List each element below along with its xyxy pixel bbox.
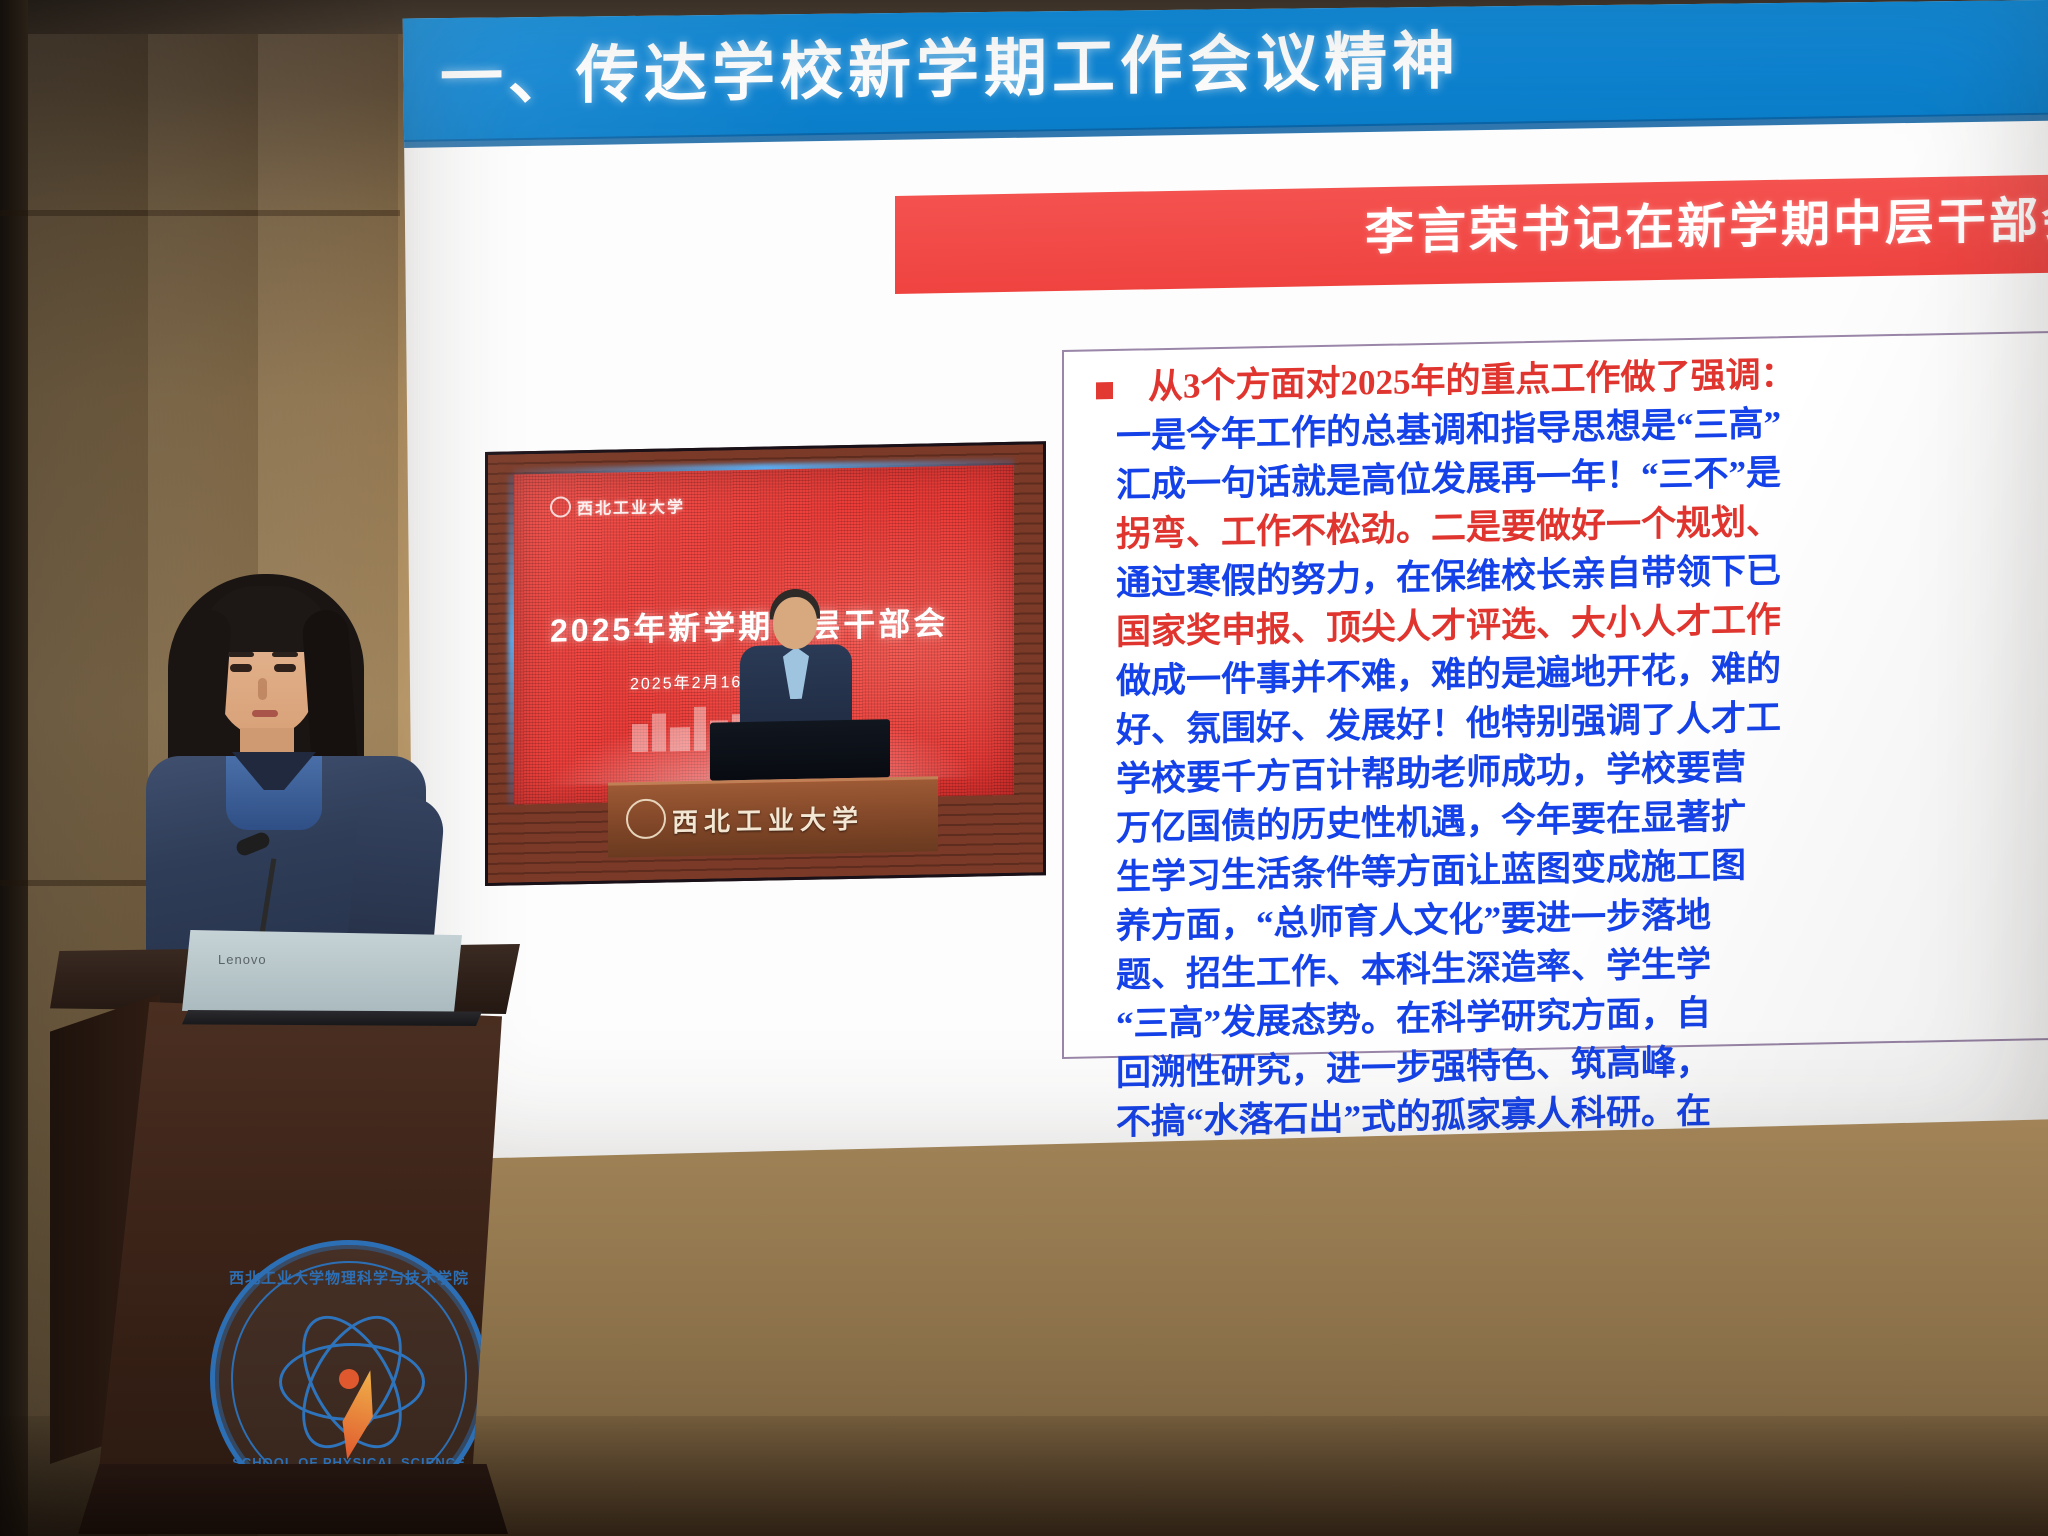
slide-line-text: 汇成一句话就是高位发展再一年！“三不”是 — [1116, 453, 1781, 505]
slide-section-title: 一、传达学校新学期工作会议精神 — [440, 30, 1460, 110]
emblem-top-text: 西北工业大学物理科学与技术学院 — [215, 1267, 483, 1288]
photo-speaker-podium — [710, 719, 890, 780]
slide-line-text: 从3个方面对2025年的重点工作做了强调： — [1148, 355, 1796, 406]
presenter-nose — [258, 678, 267, 700]
projection-screen: 一、传达学校新学期工作会议精神 李言荣书记在新学期中层干部会 西北工业大学 20… — [397, 0, 2048, 1160]
slide-text-box: 从3个方面对2025年的重点工作做了强调：一是今年工作的总基调和指导思想是“三高… — [1062, 331, 2048, 1059]
slide-red-title-text: 李言荣书记在新学期中层干部会 — [1365, 196, 2048, 258]
presenter-mouth — [252, 710, 278, 717]
slide-line-text: 好、氛围好、发展好！他特别强调了人才工 — [1116, 698, 1781, 750]
slide-line-text: 一是今年工作的总基调和指导思想是“三高” — [1116, 404, 1781, 456]
slide-line-text: 生学习生活条件等方面让蓝图变成施工图 — [1116, 846, 1746, 897]
slide-line-text: 通过寒假的努力，在保维校长亲自带领下已 — [1116, 551, 1781, 603]
slide-line-text: 万亿国债的历史性机遇，今年要在显著扩 — [1116, 797, 1746, 848]
photo-lectern-name: 西北工业大学 — [672, 799, 864, 840]
slide-body-lines: 从3个方面对2025年的重点工作做了强调：一是今年工作的总基调和指导思想是“三高… — [1074, 342, 2048, 1197]
presenter-eye-left — [230, 664, 252, 672]
slide-line-text: 回溯性研究，进一步强特色、筑高峰， — [1116, 1043, 1711, 1093]
screenshot-stage: 一、传达学校新学期工作会议精神 李言荣书记在新学期中层干部会 西北工业大学 20… — [0, 0, 2048, 1536]
bullet-square-icon — [1096, 382, 1113, 399]
slide-red-title-bar: 李言荣书记在新学期中层干部会 — [895, 175, 2048, 294]
slide-line-text: 学校要千方百计帮助老师成功，学校要营 — [1116, 748, 1746, 799]
slide-line-text: 拐弯、工作不松劲。二是要做好一个规划、 — [1116, 502, 1781, 554]
photo-logo-text: 西北工业大学 — [577, 499, 685, 518]
slide-line-text: 国家奖申报、顶尖人才评选、大小人才工作 — [1116, 600, 1781, 652]
photo-speaker-head — [773, 597, 817, 650]
slide-line-text: “三高”发展态势。在科学研究方面，自 — [1116, 994, 1711, 1044]
emblem-nucleus — [339, 1369, 359, 1389]
photo-lectern: 西北工业大学 — [608, 776, 938, 857]
presenter-eyebrow-right — [272, 652, 298, 657]
laptop-brand-label: Lenovo — [218, 952, 267, 967]
photo-lectern-seal — [626, 799, 666, 840]
slide-line-text: 做成一件事并不难，难的是遍地开花，难的 — [1116, 649, 1781, 701]
laptop-hinge — [182, 1010, 482, 1026]
laptop-lid: Lenovo — [182, 930, 462, 1016]
presenter-eyebrow-left — [228, 652, 254, 657]
presenter-laptop: Lenovo — [182, 930, 482, 1040]
slide-line-text: 养方面，“总师育人文化”要进一步落地 — [1116, 896, 1711, 946]
npu-logo-mark — [550, 496, 571, 517]
photo-university-logo: 西北工业大学 — [550, 493, 685, 520]
embedded-conference-photo: 西北工业大学 2025年新学期中层干部会 2025年2月16日 — [485, 441, 1046, 886]
podium-base — [78, 1464, 508, 1534]
photo-screen-title: 2025年新学期中层干部会 — [550, 598, 948, 652]
presenter-eye-right — [274, 664, 296, 672]
presenter-person — [140, 560, 460, 980]
slide-line-text: 题、招生工作、本科生深造率、学生学 — [1116, 945, 1711, 995]
